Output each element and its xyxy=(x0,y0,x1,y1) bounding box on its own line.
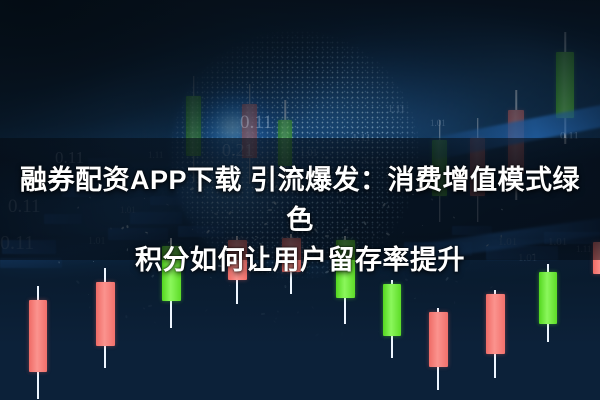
banner-image: 0.111.010.111.111.010.111.011.110.110.21… xyxy=(0,0,600,400)
candle-body xyxy=(429,312,448,367)
candle-body xyxy=(96,282,115,346)
candle-body xyxy=(29,300,48,372)
candle-body xyxy=(383,284,402,336)
title-line-2: 积分如何让用户留存率提升 xyxy=(14,240,586,280)
page-title: 融券配资APP下载 引流爆发：消费增值模式绿色 积分如何让用户留存率提升 xyxy=(0,160,600,280)
title-line-1: 融券配资APP下载 引流爆发：消费增值模式绿色 xyxy=(14,160,586,240)
candle-body xyxy=(486,294,505,354)
